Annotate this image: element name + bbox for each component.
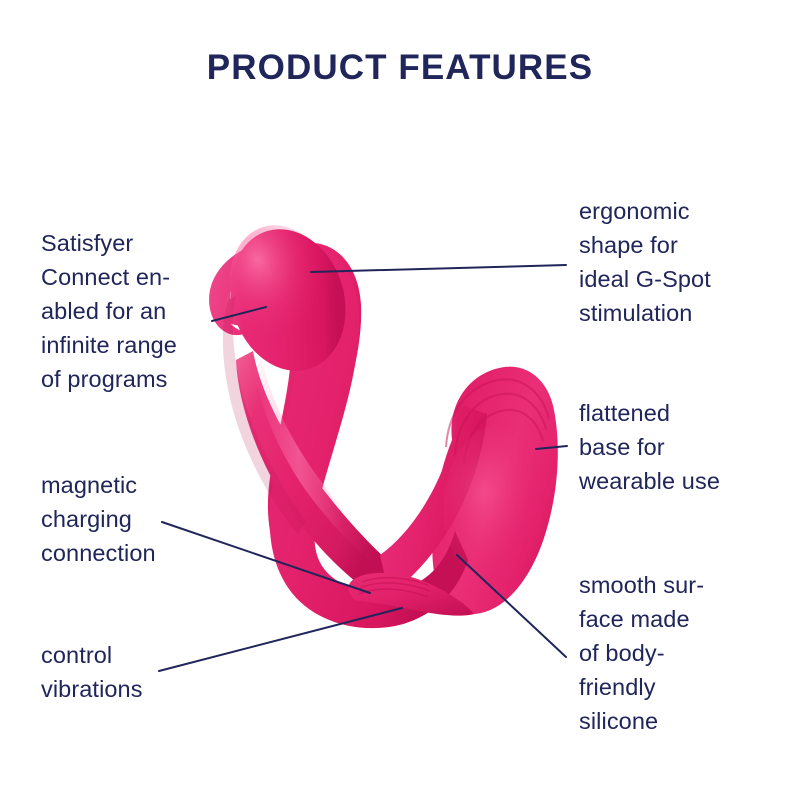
feature-label-smooth-surface: smooth sur- face made of body- friendly …	[579, 568, 779, 738]
feature-label-control-vibrations: control vibrations	[41, 638, 231, 706]
feature-label-ergonomic-shape: ergonomic shape for ideal G-Spot stimula…	[579, 194, 784, 330]
product-features-infographic: PRODUCT FEATURES	[0, 0, 800, 800]
feature-label-satisfyer-connect: Satisfyer Connect en- abled for an infin…	[41, 226, 241, 396]
feature-label-magnetic-charging: magnetic charging connection	[41, 468, 231, 570]
product-shape	[209, 212, 558, 628]
feature-label-flattened-base: flattened base for wearable use	[579, 396, 779, 498]
